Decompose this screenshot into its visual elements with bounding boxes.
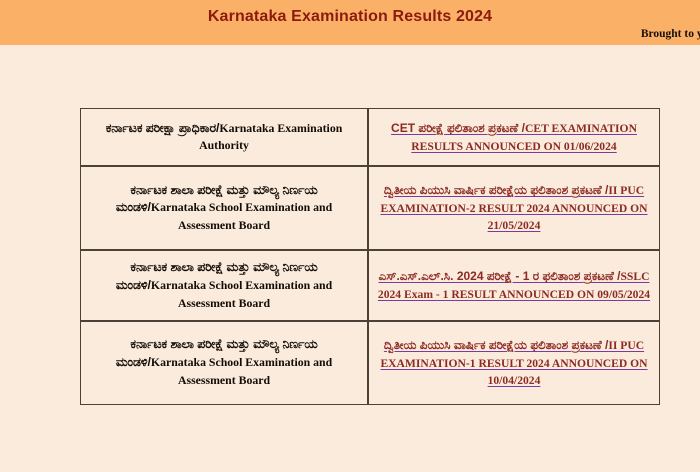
organization-cell: ಕರ್ನಾಟಕ ಶಾಲಾ ಪರೀಕ್ಷೆ ಮತ್ತು ಮೌಲ್ಯ ನಿರ್ಣಯ … — [80, 166, 368, 250]
result-link-kannada: ಎಸ್.ಎಸ್.ಎಲ್.ಸಿ. 2024 ಪರೀಕ್ಷೆ - 1 ರ ಫಲಿತಾ… — [379, 269, 621, 283]
organization-name-english: Karnataka School Examination and Assessm… — [151, 355, 332, 387]
result-link-kannada: ದ್ವಿತೀಯ ಪಿಯುಸಿ ವಾರ್ಷಿಕ ಪರೀಕ್ಷೆಯ ಫಲಿತಾಂಶ … — [384, 338, 608, 352]
organization-name-english: Karnataka School Examination and Assessm… — [151, 200, 332, 232]
table-row: ಕರ್ನಾಟಕ ಶಾಲಾ ಪರೀಕ್ಷೆ ಮತ್ತು ಮೌಲ್ಯ ನಿರ್ಣಯ … — [80, 166, 660, 250]
result-link-cell[interactable]: ದ್ವಿತೀಯ ಪಿಯುಸಿ ವಾರ್ಷಿಕ ಪರೀಕ್ಷೆಯ ಫಲಿತಾಂಶ … — [368, 321, 660, 405]
organization-name: ಕರ್ನಾಟಕ ಶಾಲಾ ಪರೀಕ್ಷೆ ಮತ್ತು ಮೌಲ್ಯ ನಿರ್ಣಯ … — [87, 259, 361, 312]
result-announcement-link[interactable]: CET ಪರೀಕ್ಷೆ ಫಲಿತಾಂಶ ಪ್ರಕಟಣೆ /CET EXAMINA… — [375, 119, 653, 155]
table-row: ಕರ್ನಾಟಕ ಶಾಲಾ ಪರೀಕ್ಷೆ ಮತ್ತು ಮೌಲ್ಯ ನಿರ್ಣಯ … — [80, 321, 660, 405]
page-title: Karnataka Examination Results 2024 — [0, 8, 700, 26]
organization-cell: ಕರ್ನಾಟಕ ಪರೀಕ್ಷಾ ಪ್ರಾಧಿಕಾರ/Karnataka Exam… — [80, 108, 368, 166]
organization-name-english: Karnataka School Examination and Assessm… — [151, 278, 332, 310]
page-root: Karnataka Examination Results 2024 Broug… — [0, 0, 700, 472]
result-announcement-link[interactable]: ದ್ವಿತೀಯ ಪಿಯುಸಿ ವಾರ್ಷಿಕ ಪರೀಕ್ಷೆಯ ಫಲಿತಾಂಶ … — [375, 181, 653, 234]
results-table: ಕರ್ನಾಟಕ ಪರೀಕ್ಷಾ ಪ್ರಾಧಿಕಾರ/Karnataka Exam… — [80, 108, 660, 405]
organization-name-english: Karnataka Examination Authority — [199, 121, 342, 153]
table-row: ಕರ್ನಾಟಕ ಪರೀಕ್ಷಾ ಪ್ರಾಧಿಕಾರ/Karnataka Exam… — [80, 108, 660, 166]
result-link-cell[interactable]: ದ್ವಿತೀಯ ಪಿಯುಸಿ ವಾರ್ಷಿಕ ಪರೀಕ್ಷೆಯ ಫಲಿತಾಂಶ … — [368, 166, 660, 250]
organization-name: ಕರ್ನಾಟಕ ಶಾಲಾ ಪರೀಕ್ಷೆ ಮತ್ತು ಮೌಲ್ಯ ನಿರ್ಣಯ … — [87, 182, 361, 235]
result-announcement-link[interactable]: ದ್ವಿತೀಯ ಪಿಯುಸಿ ವಾರ್ಷಿಕ ಪರೀಕ್ಷೆಯ ಫಲಿತಾಂಶ … — [375, 336, 653, 389]
brought-to-you-text: Brought to you b — [641, 28, 700, 40]
result-announcement-link[interactable]: ಎಸ್.ಎಸ್.ಎಲ್.ಸಿ. 2024 ಪರೀಕ್ಷೆ - 1 ರ ಫಲಿತಾ… — [375, 267, 653, 303]
organization-name-kannada: ಕರ್ನಾಟಕ ಪರೀಕ್ಷಾ ಪ್ರಾಧಿಕಾರ/ — [106, 121, 220, 135]
organization-cell: ಕರ್ನಾಟಕ ಶಾಲಾ ಪರೀಕ್ಷೆ ಮತ್ತು ಮೌಲ್ಯ ನಿರ್ಣಯ … — [80, 250, 368, 321]
organization-cell: ಕರ್ನಾಟಕ ಶಾಲಾ ಪರೀಕ್ಷೆ ಮತ್ತು ಮೌಲ್ಯ ನಿರ್ಣಯ … — [80, 321, 368, 405]
result-link-kannada: CET ಪರೀಕ್ಷೆ ಫಲಿತಾಂಶ ಪ್ರಕಟಣೆ / — [391, 121, 525, 135]
result-link-kannada: ದ್ವಿತೀಯ ಪಿಯುಸಿ ವಾರ್ಷಿಕ ಪರೀಕ್ಷೆಯ ಫಲಿತಾಂಶ … — [384, 183, 608, 197]
table-row: ಕರ್ನಾಟಕ ಶಾಲಾ ಪರೀಕ್ಷೆ ಮತ್ತು ಮೌಲ್ಯ ನಿರ್ಣಯ … — [80, 250, 660, 321]
header-banner: Karnataka Examination Results 2024 Broug… — [0, 0, 700, 45]
result-link-cell[interactable]: CET ಪರೀಕ್ಷೆ ಫಲಿತಾಂಶ ಪ್ರಕಟಣೆ /CET EXAMINA… — [368, 108, 660, 166]
organization-name: ಕರ್ನಾಟಕ ಪರೀಕ್ಷಾ ಪ್ರಾಧಿಕಾರ/Karnataka Exam… — [87, 120, 361, 155]
result-link-cell[interactable]: ಎಸ್.ಎಸ್.ಎಲ್.ಸಿ. 2024 ಪರೀಕ್ಷೆ - 1 ರ ಫಲಿತಾ… — [368, 250, 660, 321]
organization-name: ಕರ್ನಾಟಕ ಶಾಲಾ ಪರೀಕ್ಷೆ ಮತ್ತು ಮೌಲ್ಯ ನಿರ್ಣಯ … — [87, 336, 361, 389]
